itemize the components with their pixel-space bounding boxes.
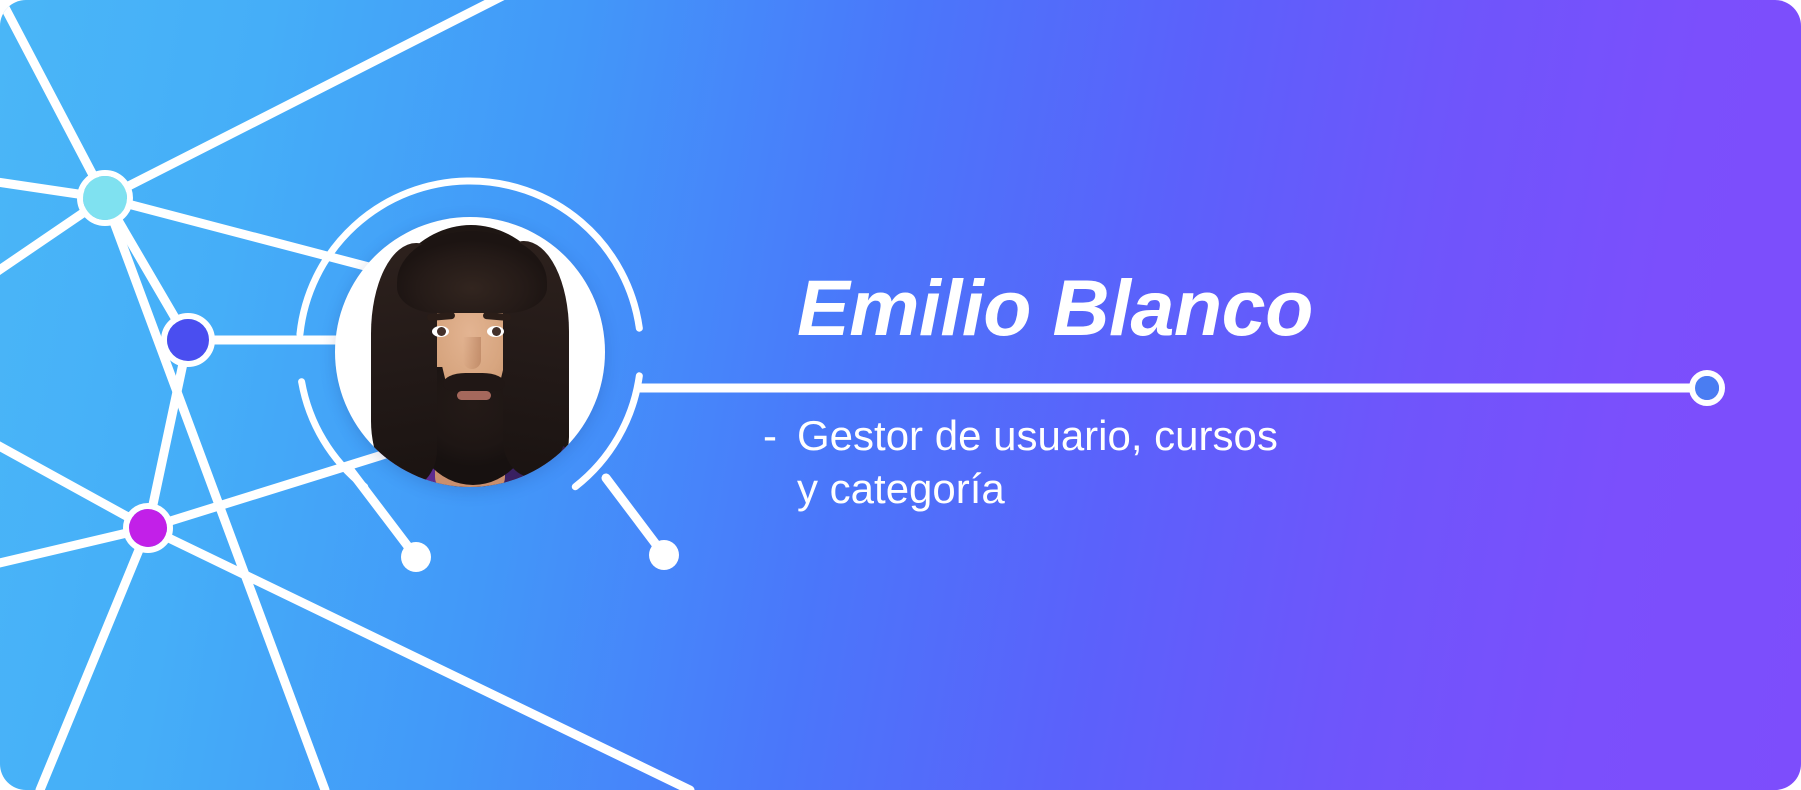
profile-name: Emilio Blanco xyxy=(797,268,1313,347)
portrait-eye-right xyxy=(487,326,504,337)
node-right-end xyxy=(1695,376,1719,400)
portrait-illustration xyxy=(335,217,605,487)
edge-cyan-topleft xyxy=(0,0,105,198)
edge-magenta-south xyxy=(40,528,148,790)
node-indigo xyxy=(167,319,209,361)
portrait-nose xyxy=(463,337,481,369)
network-edges xyxy=(0,0,1697,790)
role-line-1: Gestor de usuario, cursos xyxy=(797,412,1278,459)
portrait-mouth xyxy=(457,391,491,400)
role-line-2: y categoría xyxy=(797,463,1557,516)
profile-role: - Gestor de usuario, cursos y categoría xyxy=(797,410,1557,515)
profile-banner: Emilio Blanco - Gestor de usuario, curso… xyxy=(0,0,1801,790)
node-dot-right xyxy=(649,540,679,570)
network-graphic xyxy=(0,0,1801,790)
edge-cyan-topright xyxy=(105,0,530,198)
edge-cyan-south xyxy=(105,198,325,790)
role-bullet-dash: - xyxy=(763,410,777,463)
portrait-mustache xyxy=(443,373,505,391)
node-cyan xyxy=(83,176,127,220)
portrait-eye-left xyxy=(432,326,449,337)
avatar xyxy=(296,178,644,526)
edge-magenta-west xyxy=(0,430,148,528)
avatar-photo xyxy=(335,217,605,487)
node-dot-left xyxy=(401,542,431,572)
node-magenta xyxy=(129,509,167,547)
